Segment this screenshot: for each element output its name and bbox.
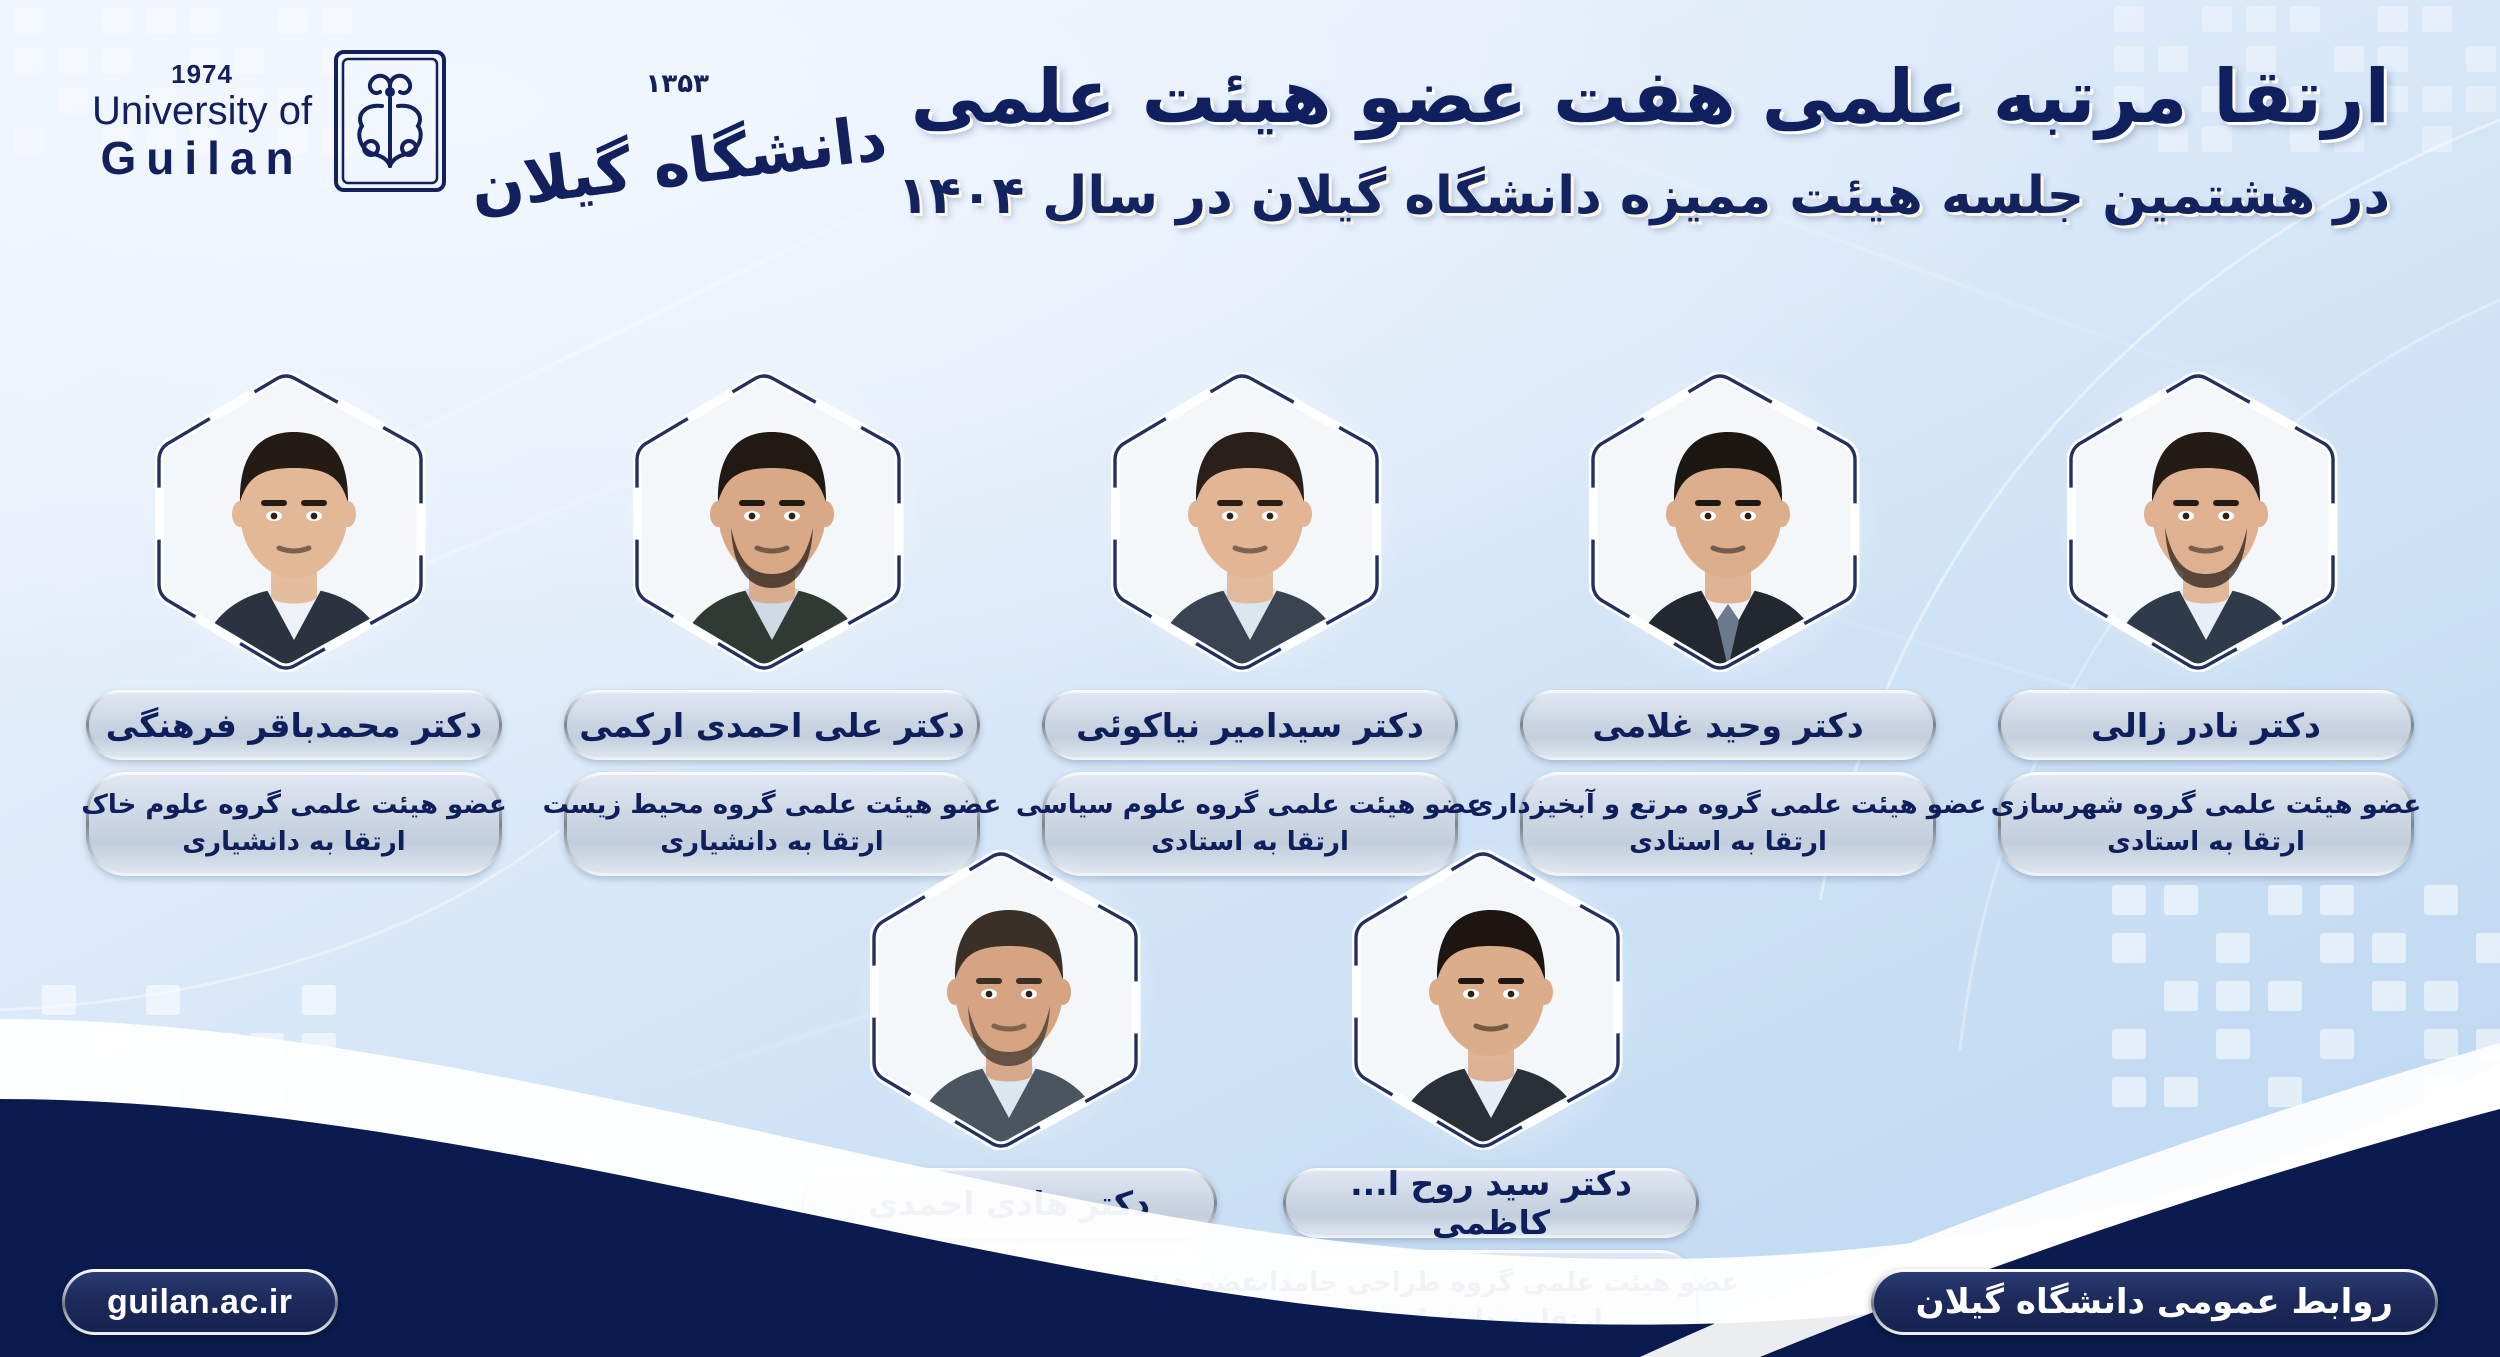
logo-year-gregorian: 1974 <box>92 61 312 87</box>
person-name: دکتر وحید غلامی <box>1523 693 1933 757</box>
logo-english-text: 1974 University of Guilan <box>92 61 312 181</box>
profile-photo-frame <box>870 850 1148 1150</box>
website-link-label: guilan.ac.ir <box>65 1272 335 1332</box>
public-relations-badge[interactable]: روابط عمومی دانشگاه گیلان <box>1871 1269 2438 1335</box>
profile-photo-frame <box>1352 850 1630 1150</box>
person-name: دکتر علی احمدی ارکمی <box>567 693 977 757</box>
person-department: عضو هیئت علمی گروه مرتع و آبخیزداری <box>1470 787 1987 824</box>
public-relations-label: روابط عمومی دانشگاه گیلان <box>1874 1272 2435 1332</box>
profile-photo <box>870 850 1148 1150</box>
profile-photo-frame <box>633 372 911 672</box>
logo-university-name-fa: دانشگاه گیلان <box>467 101 891 224</box>
profile-photo-frame <box>1111 372 1389 672</box>
person-name: دکتر سید روح ا... کاظمی <box>1286 1171 1696 1235</box>
profile-photo <box>1589 372 1867 672</box>
person-card[interactable]: دکتر وحید غلامیعضو هیئت علمی گروه مرتع و… <box>1520 372 1936 888</box>
guilan-emblem-icon <box>330 46 450 196</box>
person-name-pill: دکتر سیدامیر نیاکوئی <box>1042 690 1458 760</box>
person-department: عضو هیئت علمی گروه شهرسازی <box>1991 787 2422 824</box>
poster-title: ارتقا مرتبه علمی هفت عضو هیئت علمی <box>897 52 2390 142</box>
person-name-pill: دکتر علی احمدی ارکمی <box>564 690 980 760</box>
website-link[interactable]: guilan.ac.ir <box>62 1269 338 1335</box>
person-name: دکتر سیدامیر نیاکوئی <box>1045 693 1455 757</box>
person-name-pill: دکتر نادر زالی <box>1998 690 2414 760</box>
profile-photo <box>155 372 433 672</box>
profile-photo-frame <box>2067 372 2345 672</box>
person-card[interactable]: دکتر علی احمدی ارکمیعضو هیئت علمی گروه م… <box>564 372 980 888</box>
footer-bar: guilan.ac.ir روابط عمومی دانشگاه گیلان <box>0 1239 2500 1357</box>
profile-photo <box>1352 850 1630 1150</box>
person-card[interactable]: دکتر محمدباقر فرهنگیعضو هیئت علمی گروه ع… <box>86 372 502 888</box>
logo-persian-text: ۱۳۵۳ دانشگاه گیلان <box>468 69 886 174</box>
logo-year-hijri: ۱۳۵۳ <box>468 69 886 99</box>
person-department: عضو هیئت علمی گروه محیط زیست <box>543 787 1002 824</box>
person-name-pill: دکتر وحید غلامی <box>1520 690 1936 760</box>
poster-canvas: 1974 University of Guilan ۱۳۵۳ دانشگاه گ… <box>0 0 2500 1357</box>
profile-photo-frame <box>155 372 433 672</box>
person-card[interactable]: دکتر سیدامیر نیاکوئیعضو هیئت علمی گروه ع… <box>1042 372 1458 888</box>
person-name: دکتر نادر زالی <box>2001 693 2411 757</box>
poster-header: 1974 University of Guilan ۱۳۵۳ دانشگاه گ… <box>0 0 2500 330</box>
logo-university-word: University of <box>92 91 312 131</box>
profile-photo <box>1111 372 1389 672</box>
person-name-pill: دکتر سید روح ا... کاظمی <box>1283 1168 1699 1238</box>
person-name-pill: دکتر هادی احمدی <box>801 1168 1217 1238</box>
profile-photo-frame <box>1589 372 1867 672</box>
person-name-pill: دکتر محمدباقر فرهنگی <box>86 690 502 760</box>
poster-subtitle: در هشتمین جلسه هیئت ممیزه دانشگاه گیلان … <box>897 164 2390 229</box>
person-name: دکتر هادی احمدی <box>804 1171 1214 1235</box>
title-block: ارتقا مرتبه علمی هفت عضو هیئت علمی در هش… <box>897 52 2390 229</box>
profile-photo <box>633 372 911 672</box>
person-card[interactable]: دکتر نادر زالیعضو هیئت علمی گروه شهرسازی… <box>1998 372 2414 888</box>
person-department: عضو هیئت علمی گروه علوم خاک <box>81 787 506 824</box>
person-name: دکتر محمدباقر فرهنگی <box>89 693 499 757</box>
profile-photo <box>2067 372 2345 672</box>
university-logo: 1974 University of Guilan ۱۳۵۳ دانشگاه گ… <box>92 46 886 196</box>
person-department: عضو هیئت علمی گروه علوم سیاسی <box>1016 787 1484 824</box>
logo-university-name: Guilan <box>92 135 312 181</box>
people-row-top: دکتر نادر زالیعضو هیئت علمی گروه شهرسازی… <box>0 372 2500 888</box>
